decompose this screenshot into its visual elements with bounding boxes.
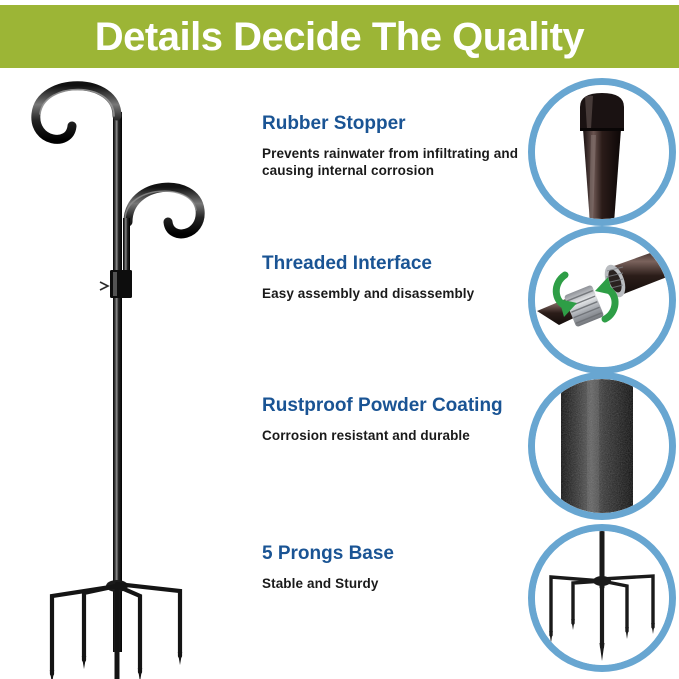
product-image	[0, 72, 250, 679]
inset-clip	[535, 233, 669, 367]
inset-powder-coating	[528, 372, 676, 520]
arm-collar	[110, 270, 132, 298]
feature-title: Threaded Interface	[262, 254, 526, 275]
infographic-page: Details Decide The Quality	[0, 0, 679, 679]
feature-rubber-stopper: Rubber Stopper Prevents rainwater from i…	[258, 114, 526, 179]
feature-rustproof-powder-coating: Rustproof Powder Coating Corrosion resis…	[258, 396, 526, 444]
page-title: Details Decide The Quality	[95, 17, 584, 57]
inset-clip	[535, 531, 669, 665]
feature-5-prongs-base: 5 Prongs Base Stable and Sturdy	[258, 544, 526, 592]
header-banner: Details Decide The Quality	[0, 5, 679, 68]
feature-title: Rustproof Powder Coating	[262, 396, 526, 417]
feature-description: Prevents rainwater from infiltrating and…	[262, 145, 526, 180]
feature-description: Easy assembly and disassembly	[262, 285, 526, 302]
inset-clip	[535, 379, 669, 513]
feature-description: Stable and Sturdy	[262, 575, 526, 592]
short-hook-arm	[128, 187, 200, 234]
feature-title: Rubber Stopper	[262, 114, 526, 135]
inset-rubber-stopper	[528, 78, 676, 226]
feature-description: Corrosion resistant and durable	[262, 427, 526, 444]
inset-prongs-base	[528, 524, 676, 672]
inset-clip	[535, 85, 669, 219]
feature-list: Rubber Stopper Prevents rainwater from i…	[258, 72, 526, 679]
powder-coating-photo-icon	[535, 379, 669, 513]
collar-pointer-icon	[100, 282, 108, 290]
main-pole	[113, 112, 122, 652]
tall-hook-arm	[36, 86, 117, 140]
shepherd-hook-illustration	[0, 72, 250, 679]
inset-threaded-interface	[528, 226, 676, 374]
prongs-base-photo-icon	[535, 531, 669, 665]
five-prong-base	[52, 580, 180, 679]
rubber-stopper-photo-icon	[535, 85, 669, 219]
feature-threaded-interface: Threaded Interface Easy assembly and dis…	[258, 254, 526, 302]
feature-title: 5 Prongs Base	[262, 544, 526, 565]
detail-inset-column	[520, 72, 679, 679]
threaded-interface-photo-icon	[535, 233, 669, 367]
